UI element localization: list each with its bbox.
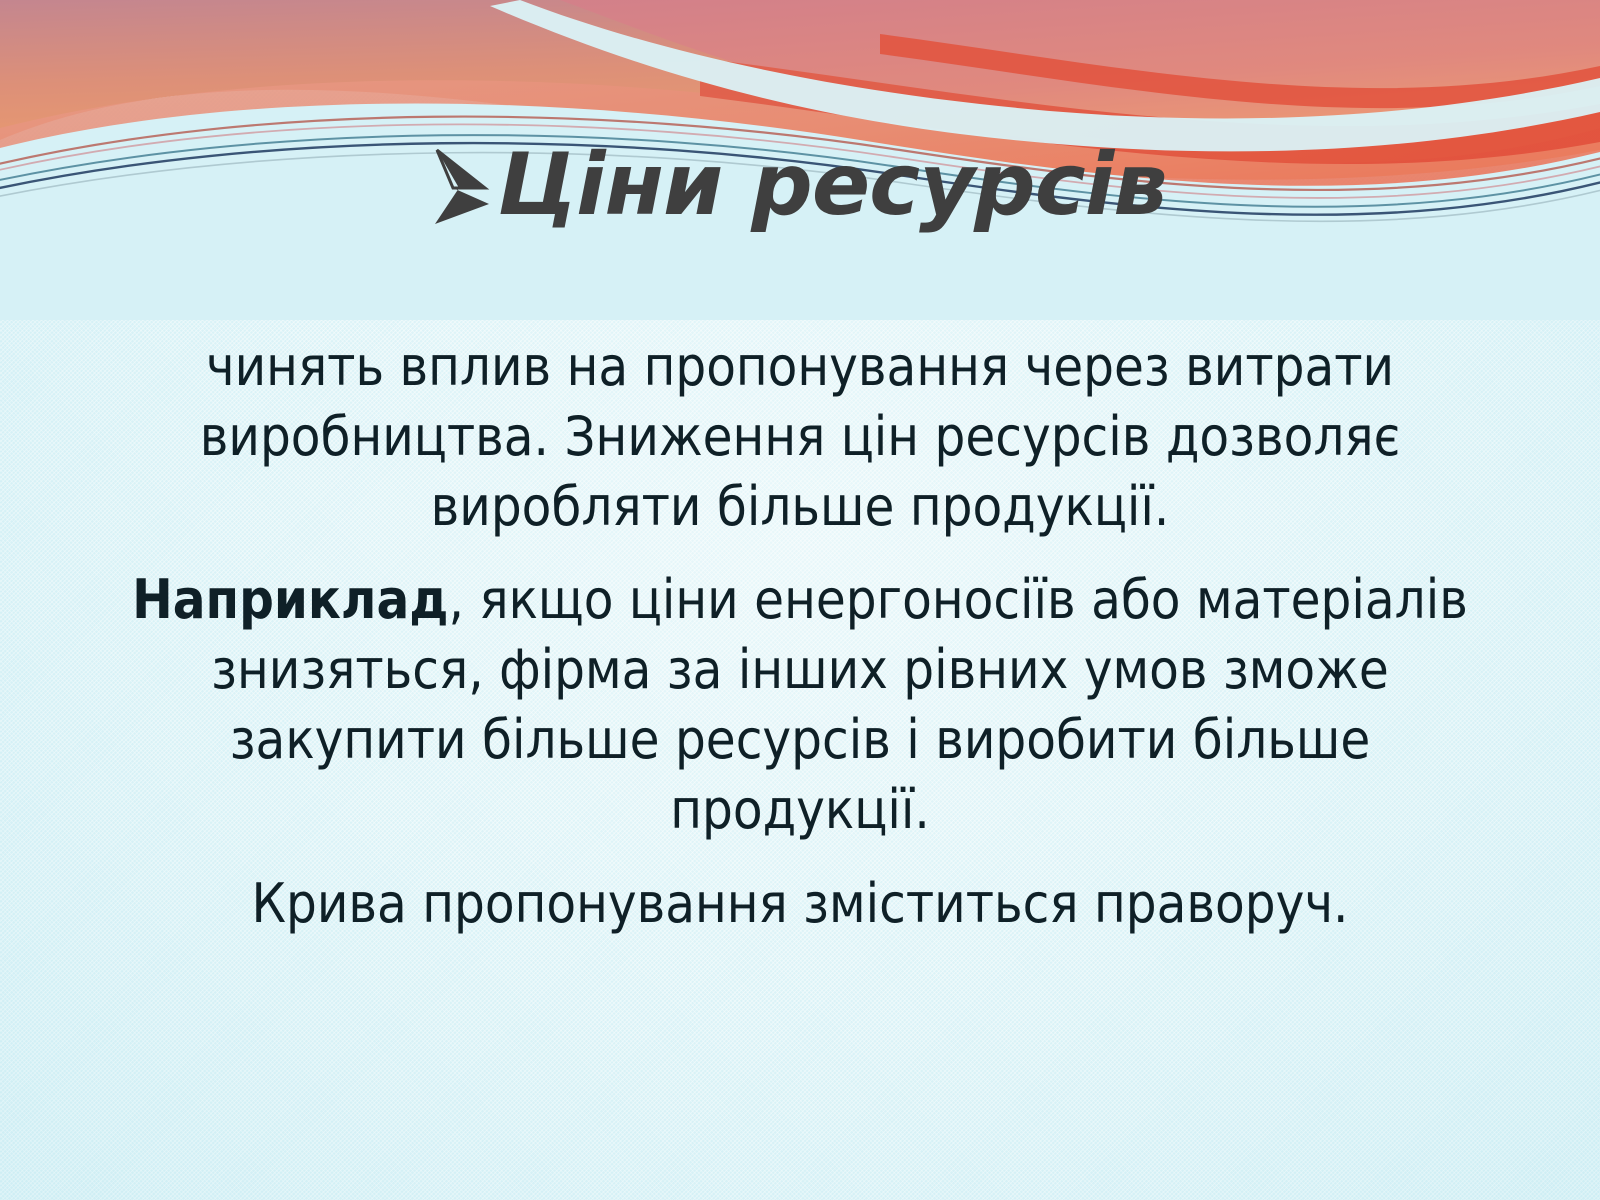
slide-title-text: Ціни ресурсів xyxy=(497,142,1166,228)
body-paragraph-2: Наприклад, якщо ціни енергоносіїв або ма… xyxy=(120,565,1480,846)
paragraph-run: чинять вплив на пропонування через витра… xyxy=(200,335,1401,538)
arrow-bullet-icon xyxy=(433,148,495,226)
slide-body: чинять вплив на пропонування через витра… xyxy=(100,332,1500,954)
paragraph-run: Крива пропонування зміститься праворуч. xyxy=(252,872,1349,935)
presentation-slide: Ціни ресурсів чинять вплив на пропонуван… xyxy=(0,0,1600,1200)
paragraph-run-bold: Наприклад xyxy=(132,568,448,631)
slide-title: Ціни ресурсів xyxy=(0,142,1600,228)
body-paragraph-3: Крива пропонування зміститься праворуч. xyxy=(180,869,1420,939)
body-paragraph-1: чинять вплив на пропонування через витра… xyxy=(180,332,1420,543)
